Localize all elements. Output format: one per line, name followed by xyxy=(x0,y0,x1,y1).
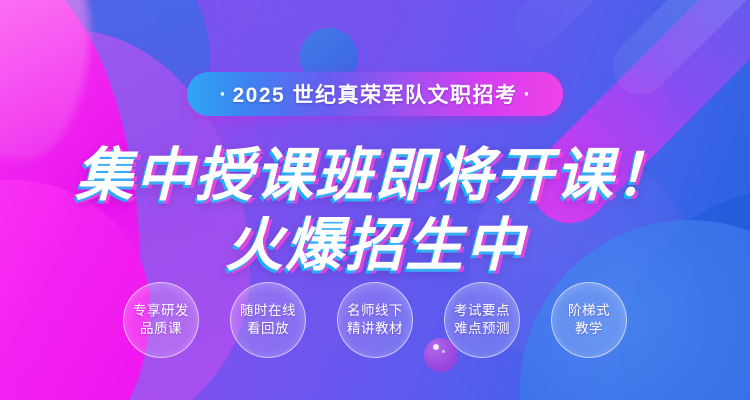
feature-badge-line1: 名师线下 xyxy=(347,302,403,320)
headline-secondary: 火爆招生中 xyxy=(0,198,750,282)
feature-badge-line1: 阶梯式 xyxy=(568,302,610,320)
feature-badge-line2: 品质课 xyxy=(140,320,182,338)
feature-badge-line2: 难点预测 xyxy=(454,320,510,338)
feature-badge-line1: 专享研发 xyxy=(133,302,189,320)
feature-badge[interactable]: 专享研发 品质课 xyxy=(123,282,199,358)
banner-content: · 2025 世纪真荣军队文职招考 · 集中授课班即将开课！ 火爆招生中 专享研… xyxy=(0,0,750,400)
feature-badge[interactable]: 考试要点 难点预测 xyxy=(444,282,520,358)
feature-badge[interactable]: 名师线下 精讲教材 xyxy=(337,282,413,358)
feature-badge-line2: 精讲教材 xyxy=(347,320,403,338)
feature-badge[interactable]: 随时在线 看回放 xyxy=(230,282,306,358)
promotional-banner: · 2025 世纪真荣军队文职招考 · 集中授课班即将开课！ 火爆招生中 专享研… xyxy=(0,0,750,400)
tagline-dot-right: · xyxy=(518,84,537,105)
feature-badge[interactable]: 阶梯式 教学 xyxy=(551,282,627,358)
feature-badge-line1: 考试要点 xyxy=(454,302,510,320)
feature-badge-line2: 教学 xyxy=(575,320,603,338)
tagline-pill: · 2025 世纪真荣军队文职招考 · xyxy=(187,72,562,116)
tagline-dot-left: · xyxy=(213,84,232,105)
feature-badge-line2: 看回放 xyxy=(247,320,289,338)
feature-badge-row: 专享研发 品质课 随时在线 看回放 名师线下 精讲教材 考试要点 难点预测 阶梯… xyxy=(0,282,750,358)
tagline-text: 2025 世纪真荣军队文职招考 xyxy=(232,79,517,109)
feature-badge-line1: 随时在线 xyxy=(240,302,296,320)
tagline-container: · 2025 世纪真荣军队文职招考 · xyxy=(0,72,750,116)
